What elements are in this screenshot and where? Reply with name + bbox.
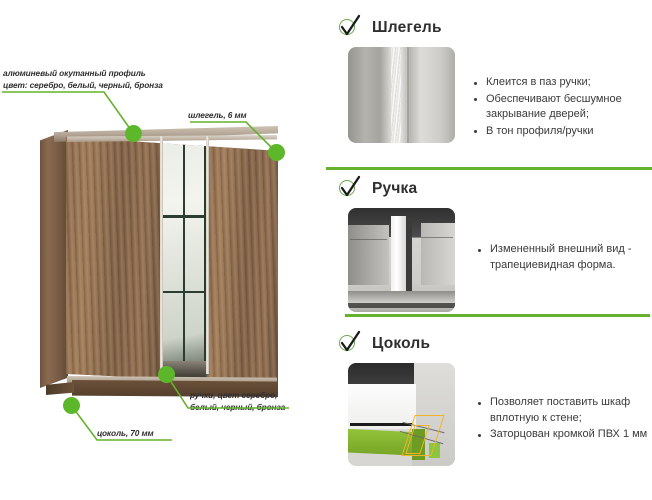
wardrobe-door-mirror — [160, 132, 207, 384]
wardrobe-handle-left — [160, 136, 163, 374]
callout-shlegel-text: шлегель, 6 мм — [188, 110, 247, 122]
hotspot-dot-shlegel[interactable] — [268, 144, 285, 161]
wardrobe-door-left — [66, 132, 160, 384]
feature-title-ruchka: Ручка — [372, 180, 417, 198]
feature-body-tsokol: Позволяет поставить шкаф вплотную к стен… — [326, 363, 652, 466]
callout-plinth-line1: цоколь, 70 мм — [97, 428, 154, 440]
callout-handles-text: ручки, цвет серебро, белый, черный, брон… — [190, 390, 285, 413]
hotspot-dot-plinth[interactable] — [63, 397, 80, 414]
feature-header-shlegel: Шлегель — [326, 14, 652, 42]
feature-section-ruchka: Ручка Измененный внешний вид - трапециев… — [326, 175, 652, 305]
shlegel-photo — [348, 47, 455, 143]
handle-photo — [348, 208, 455, 312]
callout-profile-line1: алюминевый окутанный профиль — [3, 68, 163, 80]
check-circle-icon — [338, 17, 360, 39]
bullet-item: Измененный внешний вид - трапециевидная … — [477, 242, 652, 273]
wardrobe-handle-right — [206, 136, 209, 374]
feature-bullets-shlegel: Клеится в паз ручки; Обеспечивают бесшум… — [473, 75, 651, 140]
feature-header-ruchka: Ручка — [326, 175, 652, 203]
plinth-photo — [348, 363, 455, 466]
features-panel: Шлегель Клеится в паз ручки; Обеспечиваю… — [326, 0, 652, 500]
hotspot-dot-handles[interactable] — [158, 366, 175, 383]
wardrobe-left-side — [40, 130, 68, 388]
product-illustration-panel: алюминевый окутанный профиль цвет: сереб… — [0, 0, 326, 500]
feature-section-tsokol: Цоколь Позволяет поставить ш — [326, 330, 652, 480]
callout-handles-line2: белый, черный, бронза — [190, 402, 285, 414]
section-divider-1 — [326, 167, 652, 170]
bullet-item: Клеится в паз ручки; — [473, 75, 651, 91]
feature-header-tsokol: Цоколь — [326, 330, 652, 358]
feature-title-shlegel: Шлегель — [372, 19, 442, 37]
callout-profile-text: алюминевый окутанный профиль цвет: сереб… — [3, 68, 163, 91]
wardrobe-illustration — [40, 118, 278, 396]
bullet-item: В тон профиля/ручки — [473, 124, 651, 140]
bullet-item: Обеспечивают бесшумное закрывание дверей… — [473, 92, 651, 123]
callout-shlegel-line1: шлегель, 6 мм — [188, 110, 247, 122]
feature-title-tsokol: Цоколь — [372, 335, 430, 353]
infographic-page: алюминевый окутанный профиль цвет: сереб… — [0, 0, 652, 500]
callout-plinth-text: цоколь, 70 мм — [97, 428, 154, 440]
feature-bullets-tsokol: Позволяет поставить шкаф вплотную к стен… — [477, 395, 652, 444]
feature-body-ruchka: Измененный внешний вид - трапециевидная … — [326, 208, 652, 312]
mirror-mullion-horizontal-2 — [161, 291, 206, 294]
feature-section-shlegel: Шлегель Клеится в паз ручки; Обеспечиваю… — [326, 14, 652, 160]
mirror-mullion-horizontal-1 — [161, 215, 206, 218]
callout-profile-line2: цвет: серебро, белый, черный, бронза — [3, 80, 163, 92]
callout-handles-line1: ручки, цвет серебро, — [190, 390, 285, 402]
bullet-item: Позволяет поставить шкаф вплотную к стен… — [477, 395, 652, 426]
check-circle-icon — [338, 333, 360, 355]
hotspot-dot-profile[interactable] — [125, 125, 142, 142]
mirror-mullion-vertical — [183, 142, 186, 361]
check-circle-icon — [338, 178, 360, 200]
wardrobe-door-right — [207, 132, 278, 384]
feature-bullets-ruchka: Измененный внешний вид - трапециевидная … — [477, 242, 652, 274]
feature-body-shlegel: Клеится в паз ручки; Обеспечивают бесшум… — [326, 47, 652, 143]
section-divider-2 — [345, 314, 650, 317]
wardrobe-front — [66, 132, 278, 384]
bullet-item: Заторцован кромкой ПВХ 1 мм — [477, 427, 652, 443]
